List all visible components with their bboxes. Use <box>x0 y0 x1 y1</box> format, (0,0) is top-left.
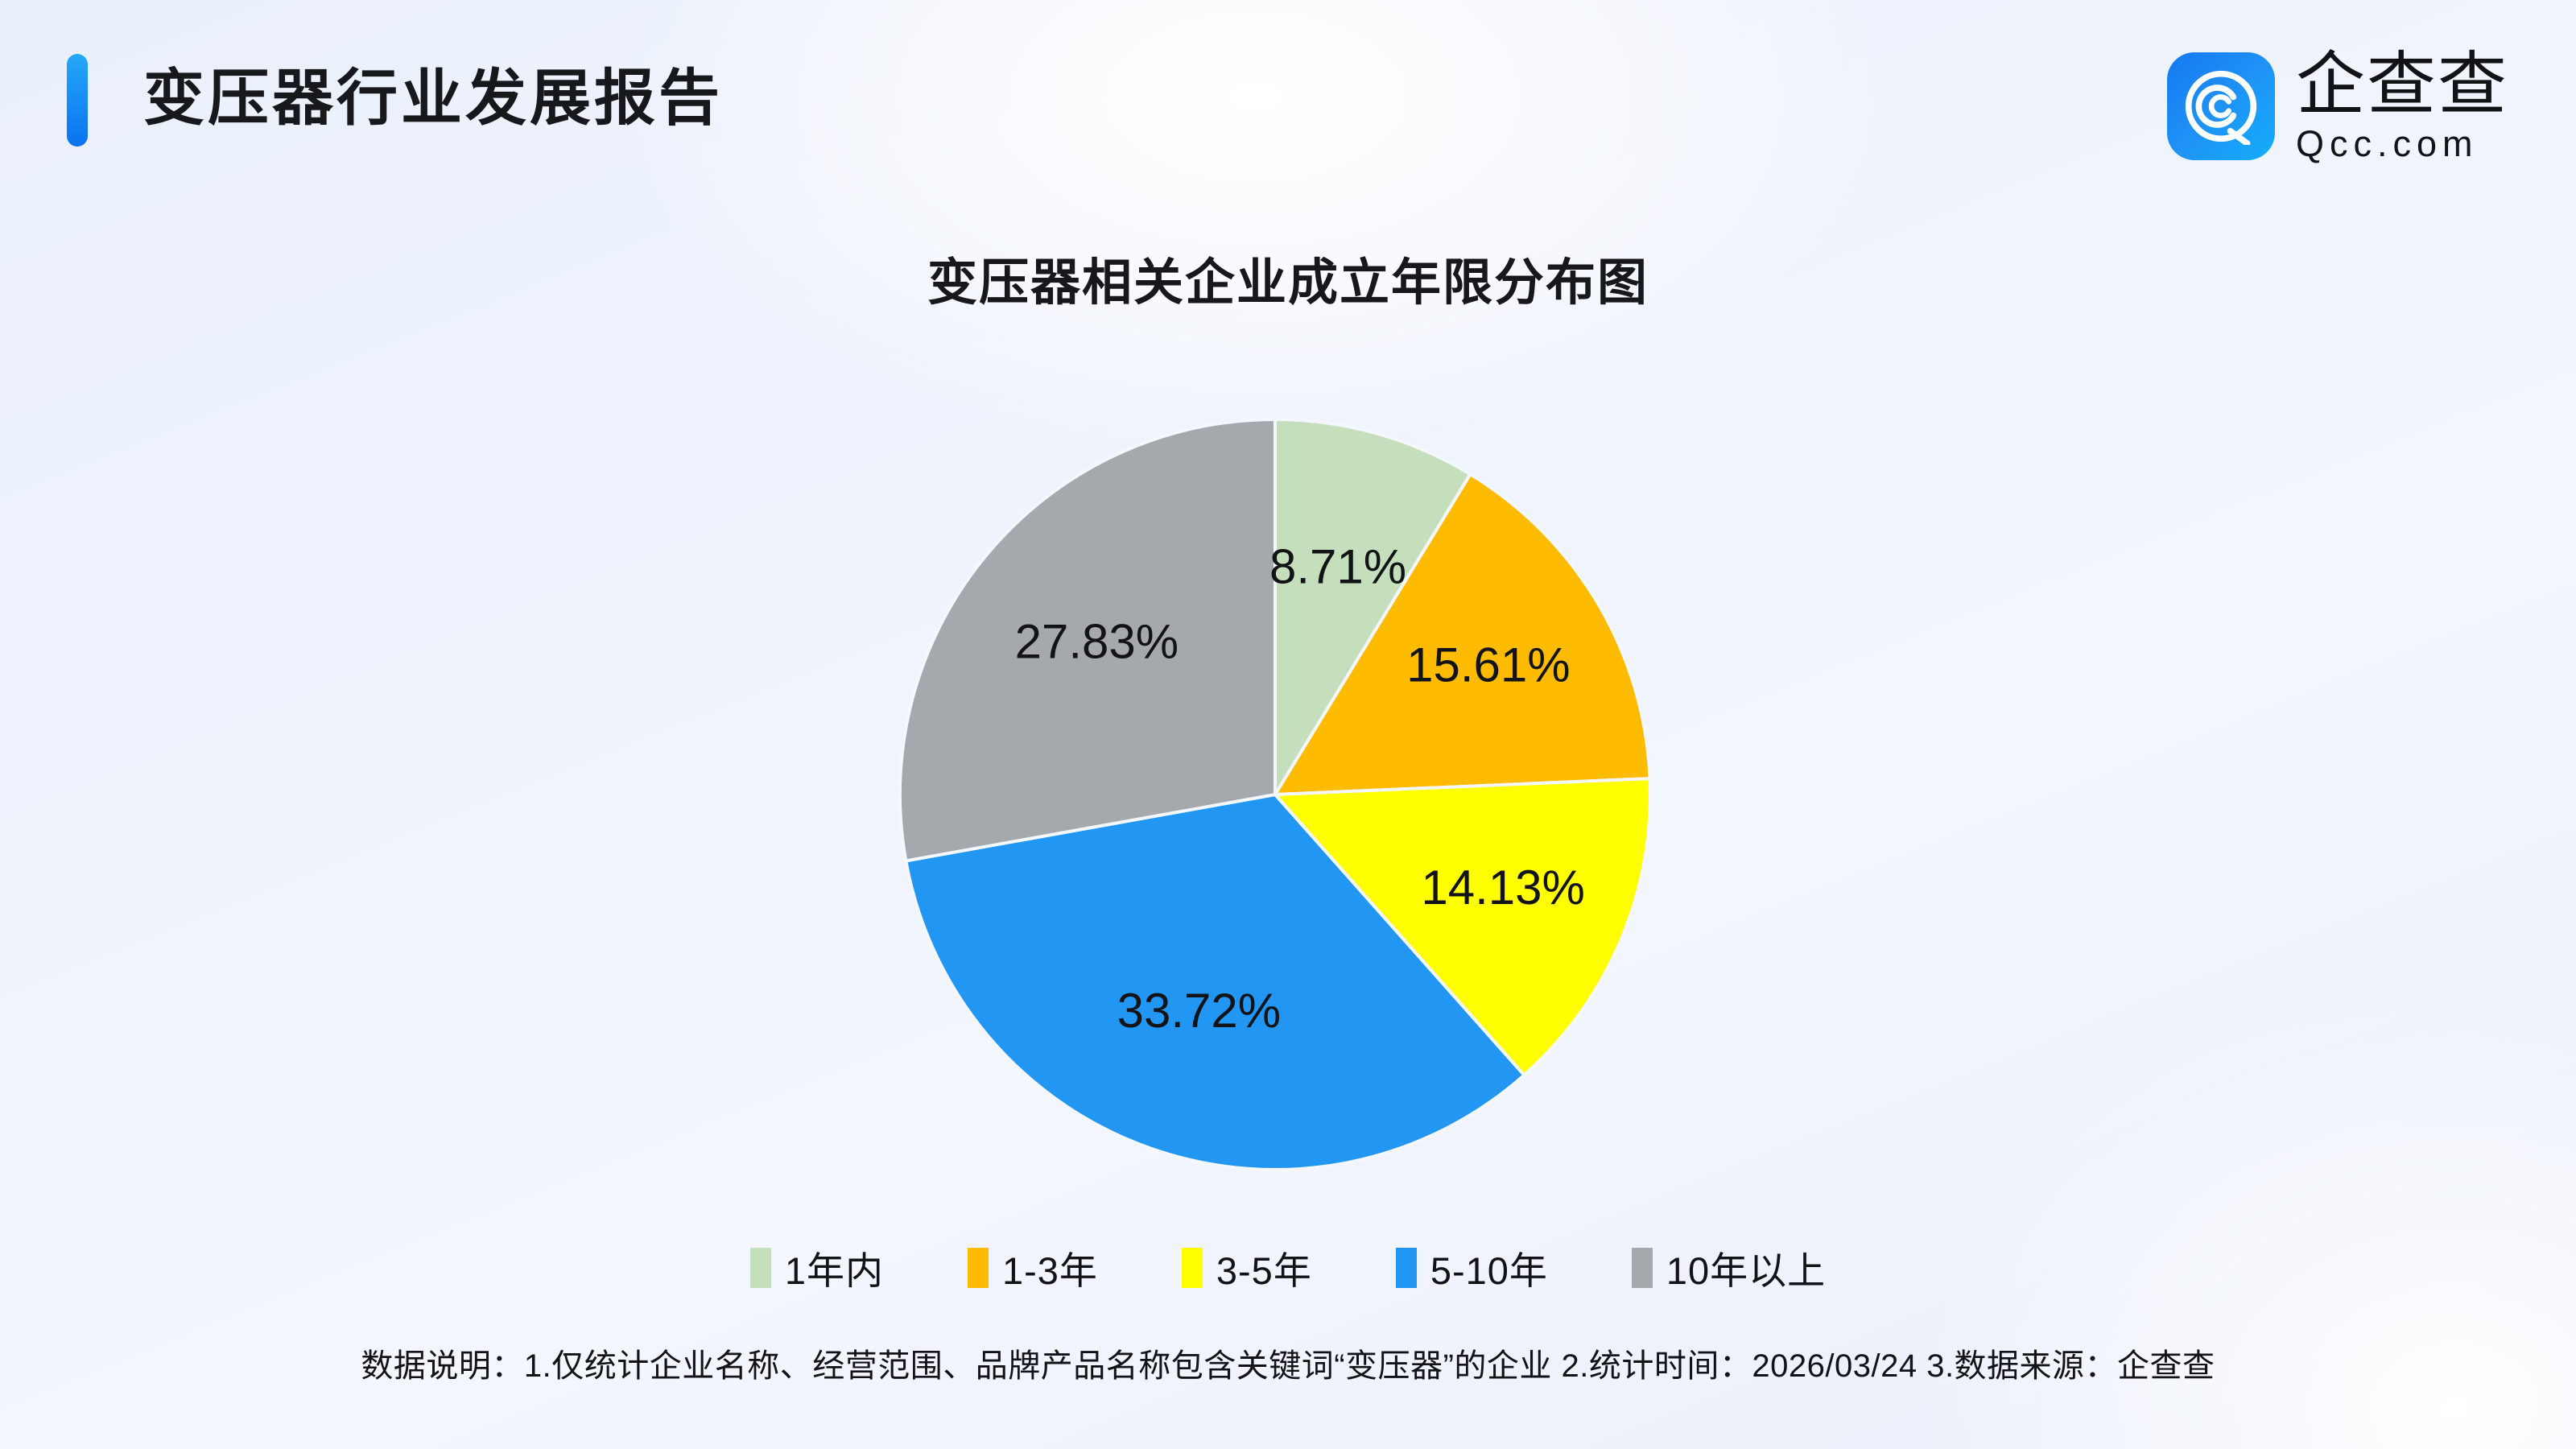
pie-slice-label: 33.72% <box>1117 984 1282 1038</box>
pie-chart-svg: 8.71%15.61%14.13%33.72%27.83% <box>896 415 1654 1174</box>
legend-swatch <box>1396 1248 1417 1288</box>
pie-chart: 8.71%15.61%14.13%33.72%27.83% <box>896 415 1654 1174</box>
legend-swatch <box>1632 1248 1653 1288</box>
legend-item[interactable]: 5-10年 <box>1396 1240 1548 1295</box>
legend-swatch <box>750 1248 771 1288</box>
pie-slice-label: 27.83% <box>1015 614 1179 668</box>
qcc-logo-icon <box>2167 52 2275 160</box>
legend-item[interactable]: 1年内 <box>750 1240 884 1295</box>
legend-label: 1-3年 <box>1002 1240 1098 1295</box>
pie-slice-label: 8.71% <box>1269 540 1406 594</box>
page-title: 变压器行业发展报告 <box>143 39 723 159</box>
pie-slice-label: 15.61% <box>1406 638 1571 692</box>
legend-item[interactable]: 3-5年 <box>1182 1240 1312 1295</box>
page-header: 变压器行业发展报告 企查查 Qcc.com <box>0 0 2576 185</box>
legend-swatch <box>968 1248 989 1288</box>
pie-slice-label: 14.13% <box>1421 861 1585 914</box>
brand-name-en: Qcc.com <box>2296 126 2508 162</box>
legend-label: 10年以上 <box>1666 1240 1826 1295</box>
legend-label: 5-10年 <box>1430 1240 1548 1295</box>
chart-legend: 1年内1-3年3-5年5-10年10年以上 <box>0 1240 2576 1295</box>
legend-swatch <box>1182 1248 1203 1288</box>
brand-name-cn: 企查查 <box>2296 50 2508 119</box>
chart-title: 变压器相关企业成立年限分布图 <box>0 242 2576 314</box>
brand-logo: 企查查 Qcc.com <box>2167 50 2508 162</box>
legend-label: 1年内 <box>785 1240 884 1295</box>
title-accent-bar <box>67 54 88 147</box>
footer-note: 数据说明：1.仅统计企业名称、经营范围、品牌产品名称包含关键词“变压器”的企业 … <box>0 1340 2576 1386</box>
legend-item[interactable]: 10年以上 <box>1632 1240 1826 1295</box>
legend-item[interactable]: 1-3年 <box>968 1240 1098 1295</box>
legend-label: 3-5年 <box>1216 1240 1312 1295</box>
